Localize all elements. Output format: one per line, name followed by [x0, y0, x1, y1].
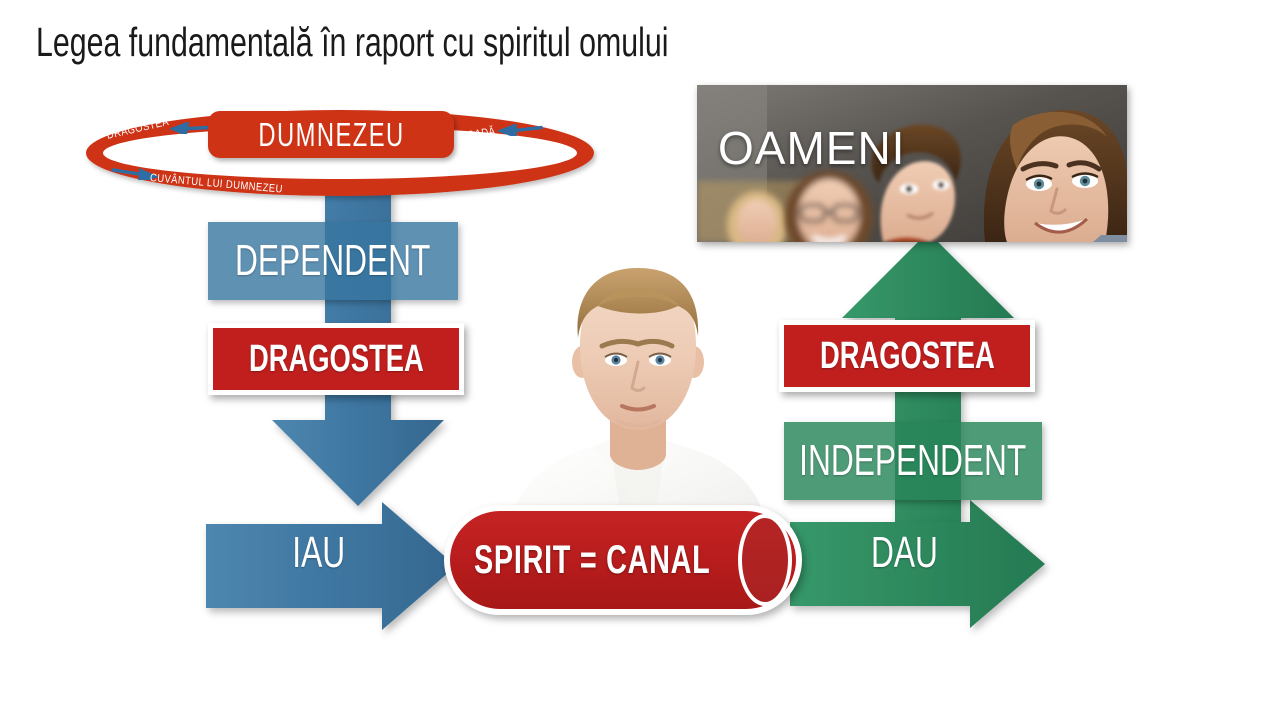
iau-label: IAU — [282, 528, 355, 578]
dragostea-box-right: DRAGOSTEA — [779, 320, 1035, 392]
dau-label: DAU — [858, 528, 951, 578]
spirit-canal-label: SPIRIT = CANAL — [444, 505, 740, 615]
dumnezeu-label: DUMNEZEU — [258, 116, 404, 154]
page-title: Legea fundamentală în raport cu spiritul… — [36, 16, 668, 68]
dumnezeu-box: DUMNEZEU — [208, 111, 454, 158]
dragostea-box-left: DRAGOSTEA — [208, 323, 464, 395]
cylinder-end-cap — [738, 514, 792, 606]
dragostea-label-right: DRAGOSTEA — [820, 335, 995, 378]
spirit-canal-cylinder: SPIRIT = CANAL — [444, 505, 802, 615]
roada-left-arrow-icon — [498, 124, 546, 136]
oameni-label: OAMENI — [718, 121, 905, 175]
independent-bar: INDEPENDENT — [784, 422, 1042, 500]
dragostea-label-left: DRAGOSTEA — [249, 338, 424, 381]
independent-label: INDEPENDENT — [799, 436, 1026, 486]
dependent-bar: DEPENDENT — [208, 222, 458, 300]
dependent-label: DEPENDENT — [235, 236, 430, 286]
slide-canvas: Legea fundamentală în raport cu spiritul… — [0, 0, 1280, 720]
